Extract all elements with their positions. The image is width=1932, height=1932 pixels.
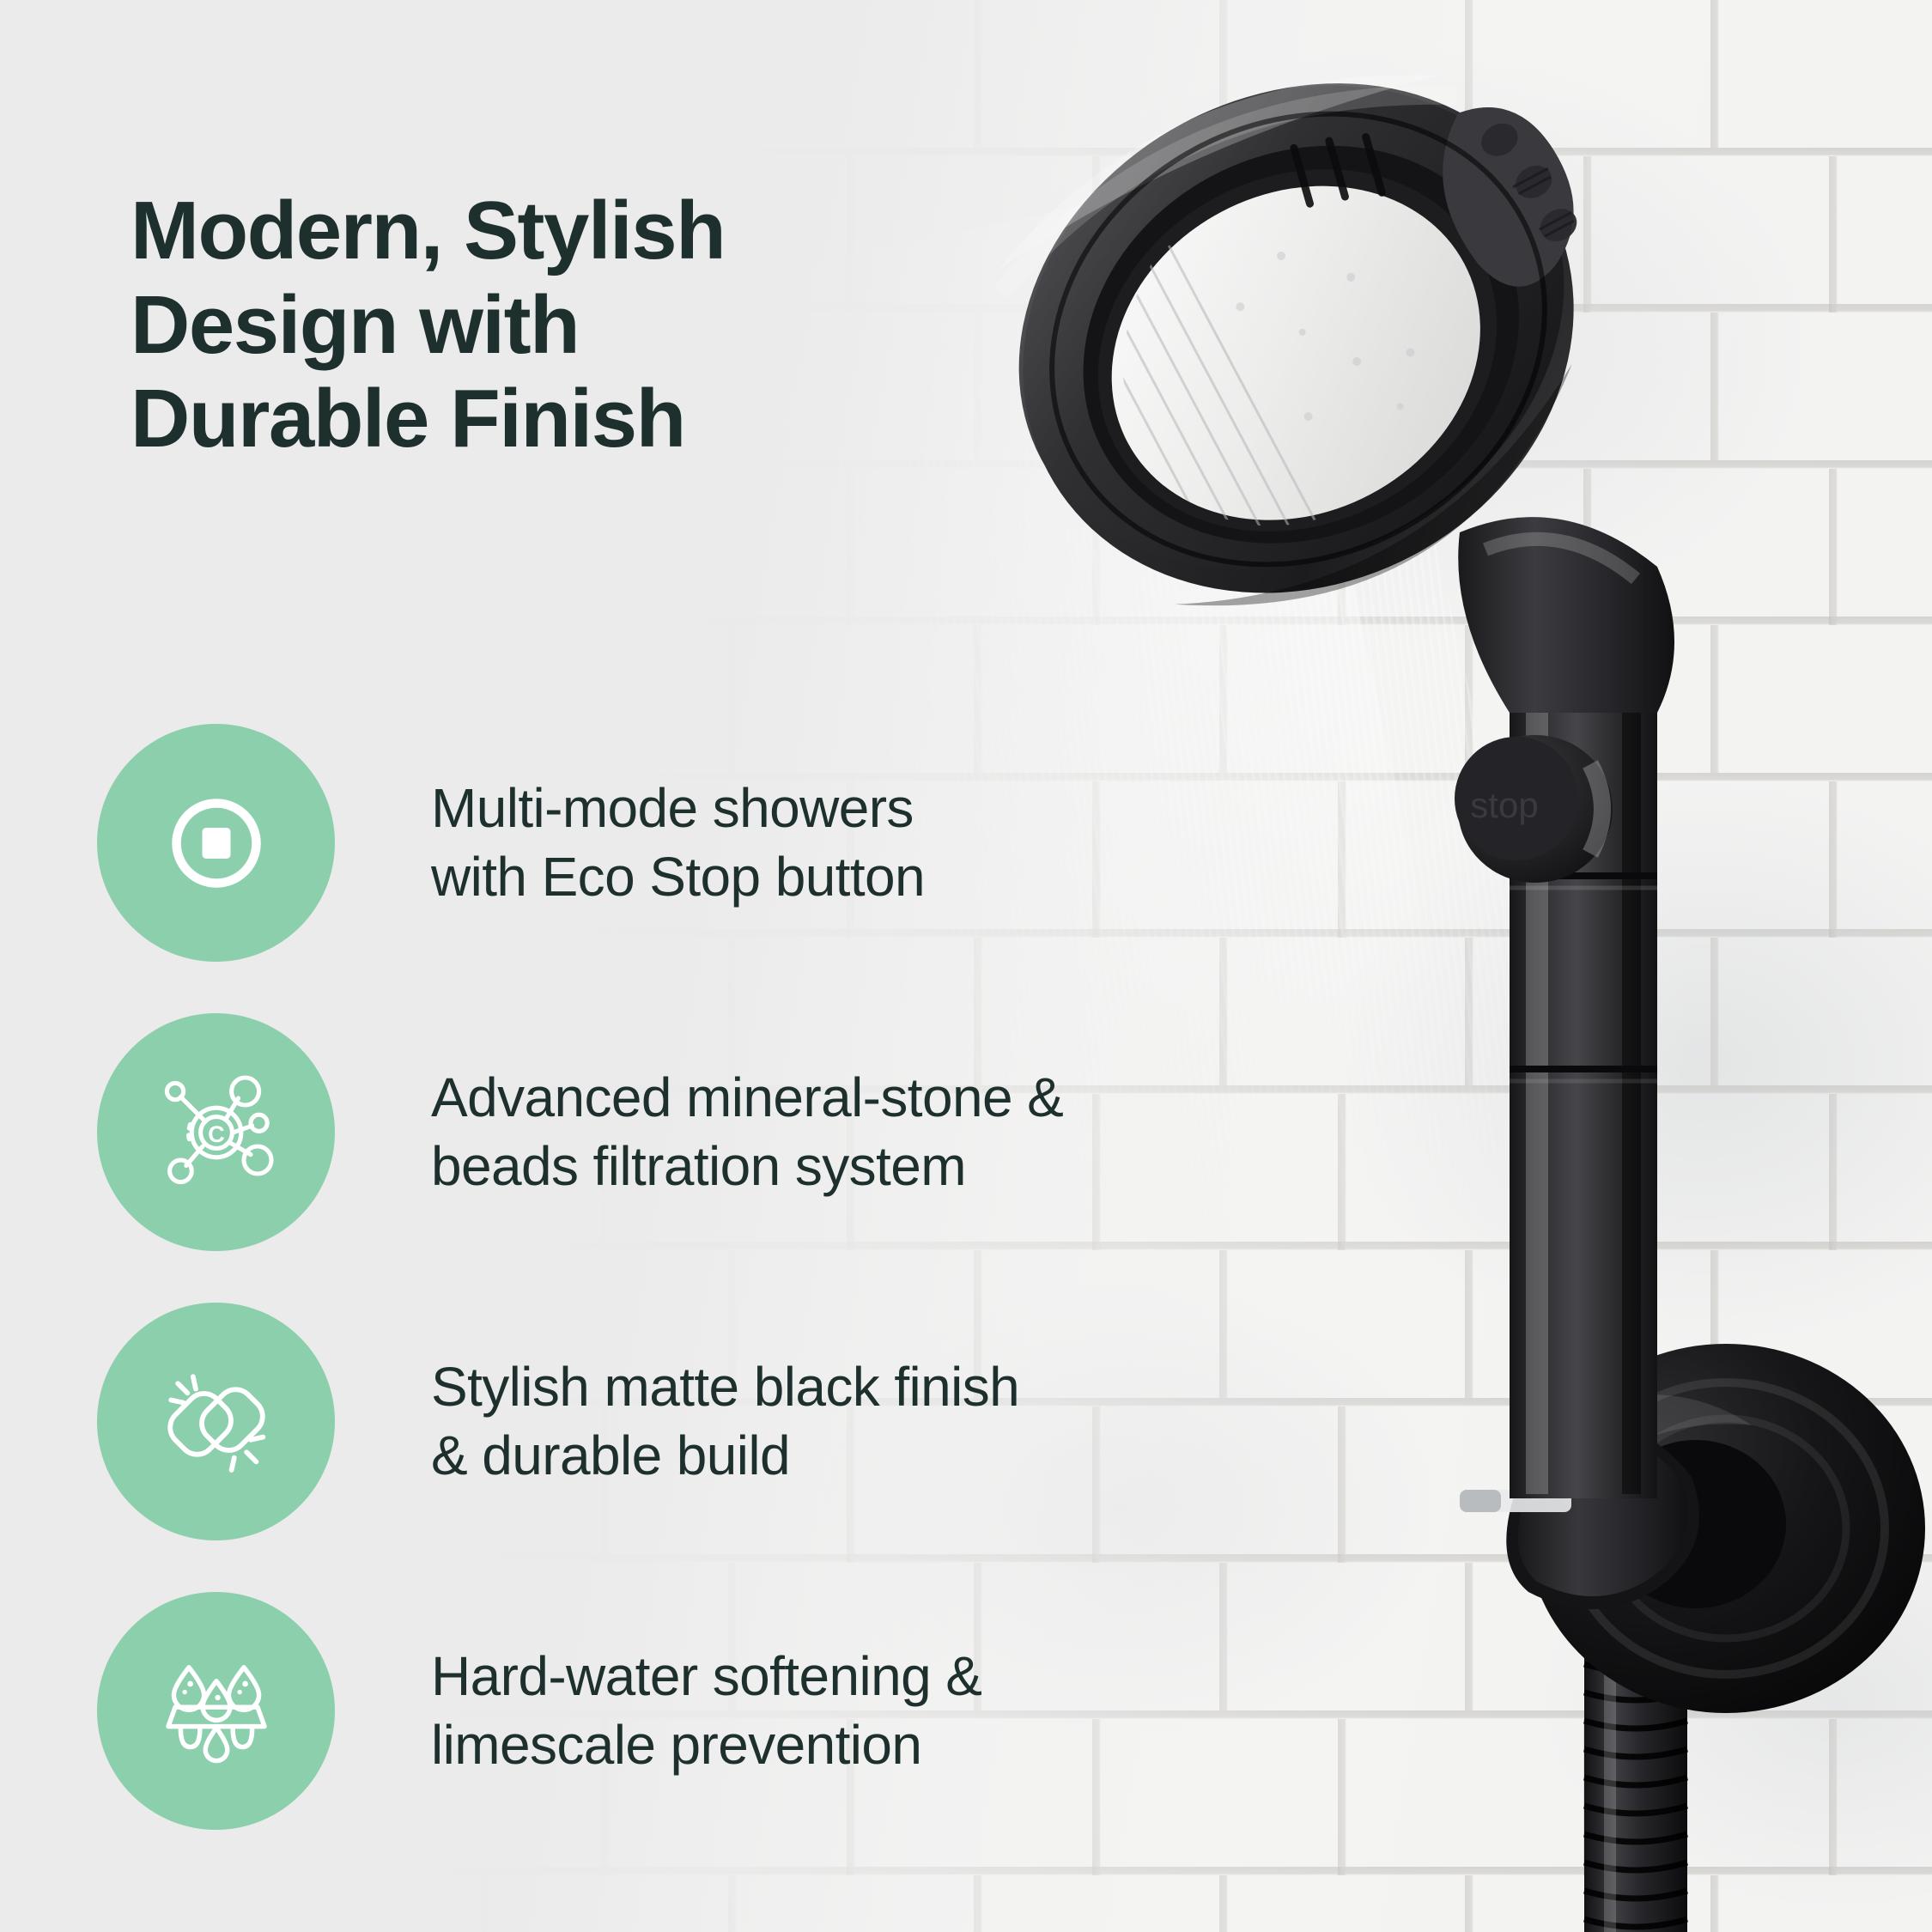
feature-text-1: Multi-mode showers with Eco Stop button <box>431 775 925 911</box>
feature-icon-circle-3 <box>97 1303 335 1540</box>
feature-item-hard-water: Hard-water softening & limescale prevent… <box>97 1592 1385 1830</box>
feature-text-4: Hard-water softening & limescale prevent… <box>431 1643 981 1779</box>
feature-text-2: Advanced mineral-stone & beads filtratio… <box>431 1064 1063 1200</box>
stop-button-icon <box>152 779 281 908</box>
chain-link-icon <box>148 1353 285 1491</box>
feature-icon-circle-1 <box>97 724 335 962</box>
molecule-center-letter: C <box>208 1121 225 1147</box>
infographic-canvas: stop <box>0 0 1932 1932</box>
water-filter-droplets-icon <box>148 1643 285 1780</box>
headline-line-1: Modern, Stylish <box>131 184 989 277</box>
feature-icon-circle-4 <box>97 1592 335 1830</box>
feature-icon-circle-2: C <box>97 1013 335 1251</box>
feature-list: Multi-mode showers with Eco Stop button <box>97 724 1385 1830</box>
feature-item-multi-mode: Multi-mode showers with Eco Stop button <box>97 724 1385 962</box>
feature-item-filtration: C Advanced mineral-stone & beads filtrat… <box>97 1013 1385 1251</box>
headline-line-2: Design with <box>131 278 989 372</box>
molecule-network-icon: C <box>148 1064 285 1201</box>
feature-item-matte-finish: Stylish matte black finish & durable bui… <box>97 1303 1385 1540</box>
feature-text-3: Stylish matte black finish & durable bui… <box>431 1353 1019 1490</box>
page-title: Modern, Stylish Design with Durable Fini… <box>131 184 989 465</box>
headline-line-3: Durable Finish <box>131 372 989 465</box>
